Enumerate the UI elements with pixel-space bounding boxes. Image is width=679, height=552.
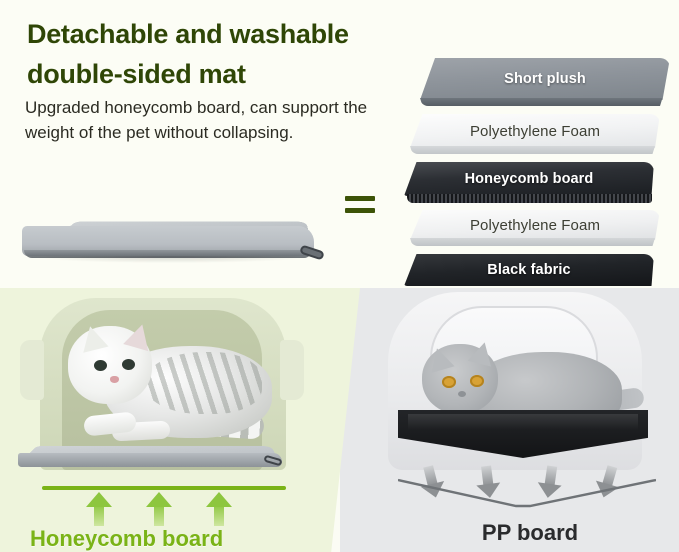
sagging-black-mat [398,410,648,470]
corrugated-edge-icon [407,194,652,203]
layer-label: Polyethylene Foam [470,123,600,140]
comparison-panel: Honeycomb board [0,288,679,552]
cat-eye-right [470,375,484,387]
cat-stripes [144,352,262,414]
subtitle-text: Upgraded honeycomb board, can support th… [25,95,395,145]
cat-head [422,344,498,414]
layer-short-plush: Short plush [420,58,670,100]
layer-label: Short plush [504,71,586,87]
cat-ear-right [123,321,155,351]
arrow-up-icon [86,492,112,526]
cat-head [68,326,152,404]
cat-silver-tabby [58,318,278,446]
arrow-up-icon [206,492,232,526]
carrier-handle-right [280,340,304,400]
top-panel: Detachable and washable double-sided mat… [0,0,679,288]
layer-polyethylene-foam-bottom: Polyethylene Foam [410,210,660,240]
layer-label: Polyethylene Foam [470,217,600,234]
mat-highlight [408,414,638,430]
infographic-root: Detachable and washable double-sided mat… [0,0,679,552]
layer-edge [410,238,660,246]
layer-edge [420,98,670,106]
cat-nose [458,391,466,397]
layer-polyethylene-foam-top: Polyethylene Foam [410,114,660,148]
mat-shadow [32,256,310,263]
equals-sign-icon [345,196,375,220]
headline-line-1: Detachable and washable [24,14,352,54]
cat-ear-left [425,345,454,373]
layer-honeycomb-board: Honeycomb board [404,162,654,196]
cat-nose [110,376,119,383]
flat-supported-mat [16,433,284,475]
cat-eye-left [94,360,107,371]
support-line-straight [42,486,286,490]
cat-eye-left [442,376,456,388]
headline-block: Detachable and washable double-sided mat [24,14,404,94]
layer-black-fabric: Black fabric [404,254,654,286]
cat-eye-right [122,359,135,370]
layer-edge [410,146,660,154]
layer-label: Honeycomb board [465,171,594,187]
mat-side-edge [18,453,282,467]
carrier-handle-left [20,340,44,400]
cat-ear-right [468,339,497,366]
layer-label: Black fabric [487,262,570,278]
label-honeycomb-board: Honeycomb board [30,526,330,552]
upward-force-arrows [86,492,246,526]
arrow-up-icon [146,492,172,526]
label-pp-board: PP board [400,520,660,546]
product-mat-image [12,190,332,275]
support-line-sagging [398,478,656,514]
layer-stack-diagram: Short plush Polyethylene Foam Honeycomb … [402,58,670,270]
headline-line-2: double-sided mat [24,54,249,94]
cat-ear-left [77,323,108,353]
